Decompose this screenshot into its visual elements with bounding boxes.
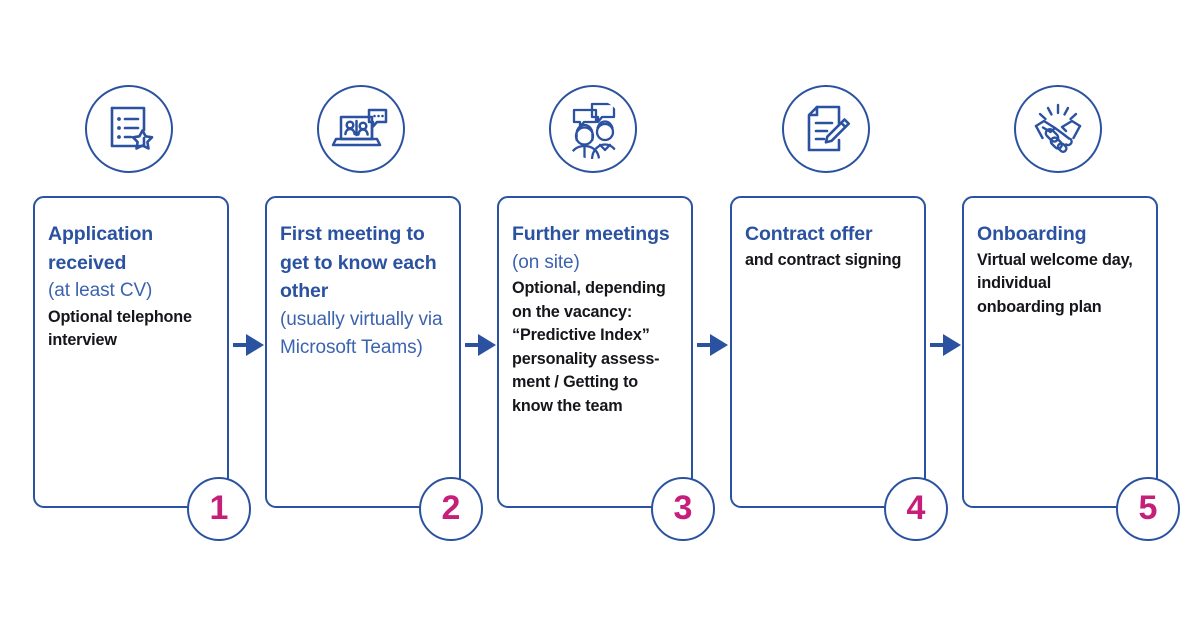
step-3-body-text: Optional, depending on the vacancy: “Pre… [512, 277, 677, 418]
process-step-4: Contract offer and contract signing 4 [730, 0, 962, 630]
step-3-subtitle: (on site) [512, 249, 677, 278]
step-2-number: 2 [442, 491, 461, 525]
step-1-subtitle: (at least CV) [48, 277, 213, 306]
step-4-number-badge: 4 [884, 477, 948, 541]
step-4-number: 4 [907, 491, 926, 525]
process-step-1: Application received (at least CV) Optio… [33, 0, 265, 630]
process-step-3: Further meetings (on site) Optional, dep… [497, 0, 729, 630]
step-5-heading: Onboarding [977, 220, 1142, 249]
step-card-3: Further meetings (on site) Optional, dep… [497, 196, 693, 508]
step-card-3-body: Further meetings (on site) Optional, dep… [499, 198, 691, 418]
step-1-heading: Application received [48, 220, 213, 277]
handshake-icon [1014, 85, 1102, 173]
two-people-speech-bubbles-icon [549, 85, 637, 173]
step-card-4-body: Contract offer and contract signing [732, 198, 924, 272]
arrow-step-3-to-4 [697, 330, 731, 360]
step-1-number-badge: 1 [187, 477, 251, 541]
arrow-step-2-to-3 [465, 330, 499, 360]
step-1-number: 1 [210, 491, 229, 525]
step-card-1: Application received (at least CV) Optio… [33, 196, 229, 508]
arrow-step-1-to-2 [233, 330, 267, 360]
step-card-5-body: Onboarding Virtual welcome day, individu… [964, 198, 1156, 319]
step-card-5: Onboarding Virtual welcome day, individu… [962, 196, 1158, 508]
step-card-4: Contract offer and contract signing [730, 196, 926, 508]
process-step-5: Onboarding Virtual welcome day, individu… [962, 0, 1194, 630]
step-4-heading: Contract offer [745, 220, 910, 249]
document-pencil-signing-icon [782, 85, 870, 173]
step-5-number-badge: 5 [1116, 477, 1180, 541]
step-card-2: First meeting to get to know each other … [265, 196, 461, 508]
document-checklist-star-icon [85, 85, 173, 173]
step-3-number-badge: 3 [651, 477, 715, 541]
laptop-video-call-icon [317, 85, 405, 173]
step-card-2-body: First meeting to get to know each other … [267, 198, 459, 363]
step-3-heading: Further meetings [512, 220, 677, 249]
step-2-heading: First meeting to get to know each other [280, 220, 445, 306]
step-5-number: 5 [1139, 491, 1158, 525]
step-5-body-text: Virtual welcome day, individual onboardi… [977, 249, 1142, 320]
step-3-number: 3 [674, 491, 693, 525]
step-card-1-body: Application received (at least CV) Optio… [35, 198, 227, 353]
step-1-body-text: Optional telephone interview [48, 306, 213, 353]
recruitment-process-diagram: Application received (at least CV) Optio… [0, 0, 1200, 630]
step-2-subtitle: (usually virtually via Microsoft Teams) [280, 306, 445, 363]
arrow-step-4-to-5 [930, 330, 964, 360]
step-4-body-text: and contract signing [745, 249, 910, 273]
process-step-2: First meeting to get to know each other … [265, 0, 497, 630]
step-2-number-badge: 2 [419, 477, 483, 541]
